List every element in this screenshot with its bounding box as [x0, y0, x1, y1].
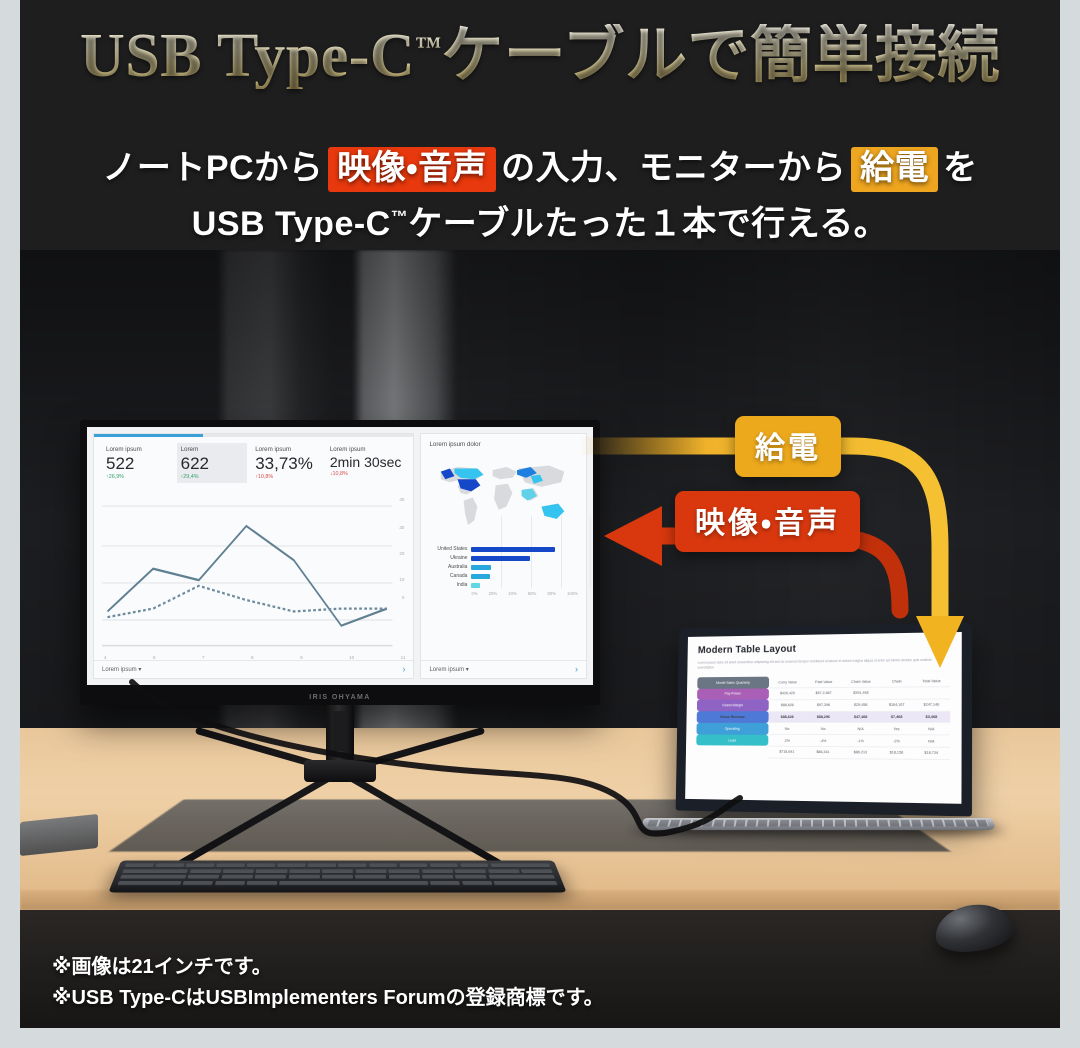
bar-fill: [471, 556, 530, 561]
table-cell: -1%: [841, 735, 881, 747]
footer-select-label: Lorem ipsum: [429, 667, 464, 673]
laptop-lid: Modern Table Layout Lorem ipsum dolor si…: [676, 623, 973, 817]
bar-tick-label: 80%: [547, 591, 556, 596]
chevron-right-icon[interactable]: ›: [402, 665, 405, 674]
kpi-card[interactable]: Lorem ipsum 522 ↑26,9%: [102, 443, 173, 483]
headline-rest: ケーブルで簡単接続: [441, 22, 1000, 90]
bar-label: India: [429, 582, 467, 588]
y-tick-label: 40: [399, 497, 404, 502]
bar-fill: [471, 583, 480, 588]
kpi-value: 522: [106, 455, 169, 472]
card-footer: Lorem ipsum ▾ ›: [421, 660, 586, 678]
bar-row: United States: [429, 546, 578, 552]
y-tick-label: 20: [399, 551, 404, 556]
keyboard-row: [122, 869, 553, 873]
trademark-icon: ™: [415, 31, 441, 60]
subheadline-line-2: USB Type-C™ケーブルたった１本で行える。: [20, 196, 1060, 245]
product-photo-scene: Lorem ipsum 522 ↑26,9% Lorem 622 ↑29,4%: [20, 250, 1060, 1028]
chevron-down-icon: ▾: [138, 667, 141, 673]
bar-axis-ticks: 0% 20% 40% 60% 80% 100%: [471, 591, 578, 596]
laptop-keyboard: [647, 820, 989, 827]
table-row: Grand Margin $88,628 $97,396 $29,458 $16…: [697, 699, 950, 712]
table-cell: -2%: [768, 734, 806, 746]
kpi-row: Lorem ipsum 522 ↑26,9% Lorem 622 ↑29,4%: [94, 437, 413, 487]
bar-fill: [471, 547, 554, 552]
monitor-brand-logo: IRIS OHYAMA: [80, 694, 600, 701]
card-footer: Lorem ipsum ▾ ›: [94, 660, 413, 678]
kpi-label: Lorem ipsum: [255, 446, 318, 453]
monitor-stand-neck: [326, 705, 354, 767]
table-cell: $97,2,687: [806, 687, 841, 699]
bar-row: India: [429, 582, 578, 588]
dashboard-app: Lorem ipsum 522 ↑26,9% Lorem 622 ↑29,4%: [87, 427, 593, 685]
bar-track: [471, 547, 578, 552]
row-label: Pay Power: [697, 688, 769, 700]
headline-main: USB Type-C: [80, 22, 415, 90]
row-label: Gross Revenue: [697, 711, 769, 723]
column-header: Past Value: [806, 676, 841, 688]
kpi-delta: ↓10,8%: [330, 471, 402, 477]
highlight-video-audio: 映像・音声: [328, 147, 496, 192]
bar-fill: [471, 565, 490, 570]
table-cell: [913, 687, 950, 699]
row-label: Operating: [696, 723, 768, 735]
table-cell: Yes: [880, 723, 912, 735]
table-cell: $88,628: [769, 699, 806, 711]
table-cell: $47,468: [841, 711, 881, 723]
column-header: Curry Value: [769, 677, 806, 688]
product-banner: USB Type-C™ケーブルで簡単接続 ノートPCから映像・音声の入力、モニタ…: [0, 0, 1080, 1048]
table-document: Modern Table Layout Lorem ipsum dolor si…: [686, 632, 962, 769]
table-cell: -2%: [880, 735, 912, 747]
table-cell: N/A: [841, 723, 881, 735]
table-cell: $718,641: [768, 746, 806, 758]
table-cell: $88,628: [769, 711, 806, 723]
table-cell: No: [768, 723, 806, 735]
kpi-card[interactable]: Lorem ipsum 2min 30sec ↓10,8%: [326, 443, 406, 483]
subhead-text-b: の入力、モニターから: [501, 149, 846, 187]
bar-track: [471, 556, 578, 561]
subheadline-line-1: ノートPCから映像・音声の入力、モニターから給電を: [20, 140, 1060, 192]
kpi-delta: ↑26,9%: [106, 474, 169, 480]
table-cell: $3,468: [913, 711, 951, 723]
table-cell: $86,213: [841, 747, 881, 759]
document-paragraph: Lorem ipsum dolor sit amet consectetur a…: [698, 658, 951, 671]
bar-fill: [471, 574, 489, 579]
country-bar-chart: United States Ukraine Aust: [421, 542, 586, 598]
row-label: Lead: [696, 734, 768, 746]
footnote-line: ※画像は21インチです。: [52, 952, 604, 983]
footer-select-right[interactable]: Lorem ipsum ▾: [429, 666, 468, 673]
trademark-icon-2: ™: [391, 208, 409, 227]
row-label: Month Sales Quarterly: [697, 677, 769, 689]
bar-track: [471, 583, 578, 588]
dashboard-main-card: Lorem ipsum 522 ↑26,9% Lorem 622 ↑29,4%: [93, 433, 414, 679]
laptop-base: [640, 818, 997, 830]
bar-label: Australia: [429, 564, 467, 570]
bar-track: [471, 565, 578, 570]
kpi-delta: ↑29,4%: [181, 474, 244, 480]
bar-label: Canada: [429, 573, 467, 579]
y-tick-label: 0: [402, 595, 405, 600]
bar-tick-label: 100%: [567, 591, 578, 596]
kpi-label: Lorem: [181, 446, 244, 453]
column-header: Total Value: [913, 675, 950, 687]
bar-label: United States: [429, 546, 467, 552]
table-cell: $7,468: [881, 711, 913, 723]
dashboard-side-card: Lorem ipsum dolor: [420, 433, 587, 679]
monitor-screen: Lorem ipsum 522 ↑26,9% Lorem 622 ↑29,4%: [87, 427, 593, 685]
table-row: Operating No No N/A Yes N/A: [696, 723, 950, 735]
document-title: Modern Table Layout: [698, 641, 951, 656]
table-cell: -4%: [806, 735, 841, 747]
table-cell: $86,341: [805, 746, 840, 758]
table-cell: $18,734: [913, 747, 951, 759]
bar-tick-label: 0%: [471, 591, 477, 596]
table-cell: [881, 687, 913, 699]
kpi-label: Lorem ipsum: [330, 446, 402, 453]
column-header: Chain Value: [841, 676, 881, 688]
table-cell: $29,458: [841, 699, 881, 711]
keyboard-row: [124, 863, 550, 867]
chevron-right-icon[interactable]: ›: [575, 665, 578, 674]
table-cell: $426,425: [769, 688, 806, 700]
kpi-card[interactable]: Lorem ipsum 33,73% ↑10,8%: [251, 443, 322, 483]
world-map-svg: [427, 450, 580, 542]
table-cell: N/A: [913, 723, 951, 735]
table-row: Pay Power $426,425 $97,2,687 $391,448: [697, 687, 950, 700]
keyboard: [108, 860, 566, 892]
bar-tick-label: 40%: [508, 591, 517, 596]
table-cell: $164,167: [881, 699, 913, 711]
chevron-down-icon: ▾: [466, 667, 469, 673]
bar-tick-label: 60%: [528, 591, 537, 596]
monitor: Lorem ipsum 522 ↑26,9% Lorem 622 ↑29,4%: [80, 420, 600, 705]
subhead-text-a: ノートPCから: [102, 149, 323, 187]
keyboard-row: [117, 881, 557, 885]
bar-track: [471, 574, 578, 579]
table-cell: $18,156: [880, 747, 912, 759]
kpi-delta: ↑10,8%: [255, 474, 318, 480]
kpi-label: Lorem ipsum: [106, 446, 169, 453]
footer-select-label: Lorem ipsum: [102, 667, 137, 673]
highlight-power: 給電: [851, 147, 938, 192]
page-title: USB Type-C™ケーブルで簡単接続: [20, 24, 1060, 89]
monitor-bezel: Lorem ipsum 522 ↑26,9% Lorem 622 ↑29,4%: [80, 420, 600, 705]
laptop-screen: Modern Table Layout Lorem ipsum dolor si…: [685, 632, 962, 804]
world-map-chart: [427, 450, 580, 542]
side-card-title: Lorem ipsum dolor: [421, 434, 586, 450]
y-tick-label: 30: [399, 525, 404, 530]
line-chart: 40 30 20 10 0: [102, 489, 403, 657]
table-cell: $97,396: [806, 699, 841, 711]
table-cell: No: [806, 723, 841, 735]
y-tick-label: 10: [399, 577, 404, 582]
monitor-stand-base: [304, 760, 376, 782]
bar-tick-label: 20%: [489, 591, 498, 596]
footnote-line: ※USB Type-CはUSBImplementers Forumの登録商標です…: [52, 983, 604, 1014]
footnotes: ※画像は21インチです。 ※USB Type-CはUSBImplementers…: [52, 952, 604, 1014]
data-table: Month Sales Quarterly Curry Value Past V…: [696, 675, 950, 760]
banner-artwork: USB Type-C™ケーブルで簡単接続 ノートPCから映像・音声の入力、モニタ…: [20, 0, 1060, 1028]
grid-line: [590, 516, 591, 588]
table-row-highlighted: Gross Revenue $88,628 $88,296 $47,468 $7…: [697, 711, 951, 723]
bar-row: Australia: [429, 564, 578, 570]
table-row: $718,641 $86,341 $86,213 $18,156 $18,734: [696, 746, 950, 760]
kpi-card[interactable]: Lorem 622 ↑29,4%: [177, 443, 248, 483]
table-cell: N/A: [913, 735, 951, 747]
desk-edge: [20, 890, 1060, 910]
row-label: Grand Margin: [697, 700, 769, 712]
kpi-value: 2min 30sec: [330, 455, 402, 469]
line-chart-svg: [102, 489, 403, 657]
laptop: Modern Table Layout Lorem ipsum dolor si…: [670, 625, 970, 813]
bar-label: Ukraine: [429, 555, 467, 561]
keyboard-row: [120, 875, 556, 879]
footer-select-left[interactable]: Lorem ipsum ▾: [102, 666, 141, 673]
column-header: Chain: [881, 676, 913, 688]
subhead2-text-b: ケーブルたった１本で行える。: [408, 205, 888, 243]
bar-row: Ukraine: [429, 555, 578, 561]
kpi-value: 622: [181, 455, 244, 472]
table-cell: $88,296: [806, 711, 841, 723]
table-cell: $247,146: [913, 699, 950, 711]
subhead2-text-a: USB Type-C: [192, 205, 391, 243]
bar-row: Canada: [429, 573, 578, 579]
table-cell: $391,448: [841, 687, 881, 699]
kpi-value: 33,73%: [255, 455, 318, 472]
subhead-text-c: を: [943, 149, 978, 187]
